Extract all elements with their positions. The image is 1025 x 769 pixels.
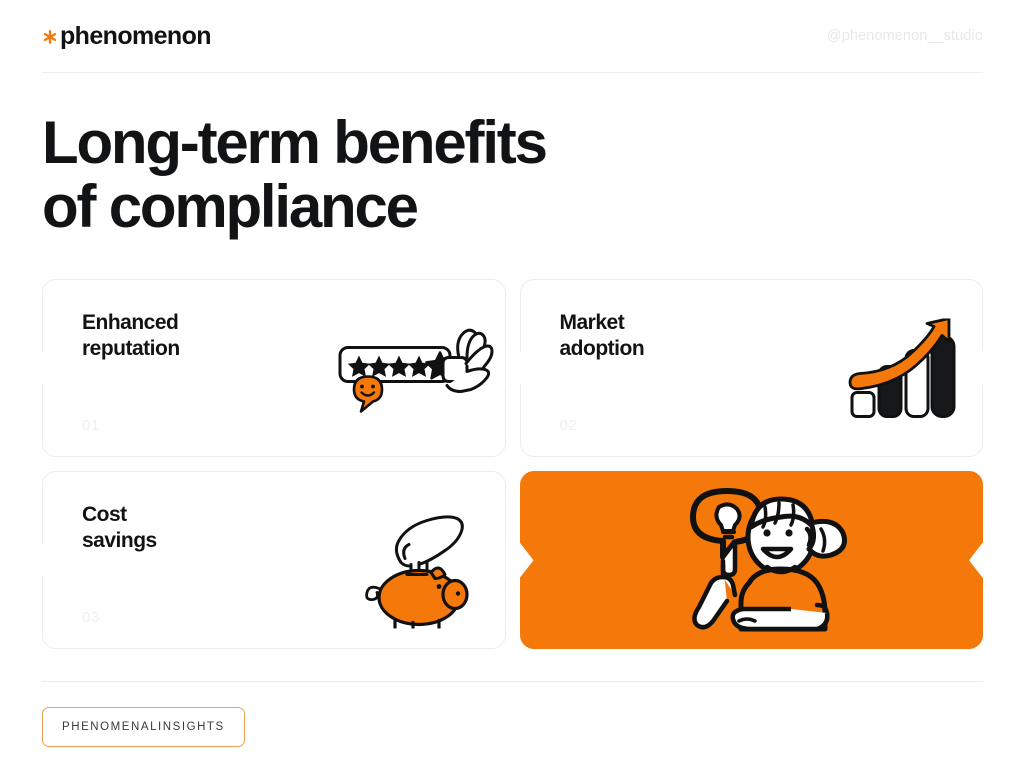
card-body: Cost savings 03	[43, 472, 157, 648]
five-star-rating-hand-illustration	[335, 319, 495, 424]
insights-badge[interactable]: PHENOMENALINSIGHTS	[42, 707, 245, 747]
brand-logo[interactable]: phenomenon	[42, 22, 211, 51]
growth-bar-chart-arrow-illustration	[846, 319, 956, 428]
page-title: Long-term benefits of compliance	[42, 111, 983, 238]
benefit-card-cost-savings[interactable]: Cost savings 03	[42, 471, 506, 649]
page-title-line-2: of compliance	[42, 175, 983, 239]
asterisk-icon	[42, 29, 58, 45]
footer-divider	[42, 681, 983, 682]
card-number: 01	[82, 417, 180, 434]
slide: phenomenon @phenomenon__studio Long-term…	[0, 0, 1025, 769]
slide-footer: PHENOMENALINSIGHTS	[42, 681, 983, 747]
benefits-card-grid: Enhanced reputation 01	[42, 279, 983, 649]
card-body: Enhanced reputation 01	[43, 280, 180, 456]
benefit-card-accent-illustration[interactable]	[520, 471, 984, 649]
page-title-line-1: Long-term benefits	[42, 111, 983, 175]
card-notch-right	[969, 542, 983, 578]
header-divider	[42, 72, 983, 73]
card-notch-left	[520, 542, 534, 578]
brand-name: phenomenon	[60, 22, 211, 51]
card-notch-right	[492, 542, 506, 578]
card-title: Market adoption	[560, 310, 645, 361]
card-notch-right	[969, 350, 983, 386]
card-number: 02	[560, 417, 645, 434]
card-title: Enhanced reputation	[82, 310, 180, 361]
card-number: 03	[82, 609, 157, 626]
benefit-card-enhanced-reputation[interactable]: Enhanced reputation 01	[42, 279, 506, 457]
social-handle: @phenomenon__studio	[827, 28, 983, 44]
piggy-bank-coin-hand-illustration	[361, 501, 481, 634]
card-title: Cost savings	[82, 502, 157, 553]
woman-idea-lightbulb-illustration	[631, 473, 871, 648]
card-body: Market adoption 02	[521, 280, 645, 456]
slide-header: phenomenon @phenomenon__studio	[42, 0, 983, 72]
benefit-card-market-adoption[interactable]: Market adoption 02	[520, 279, 984, 457]
